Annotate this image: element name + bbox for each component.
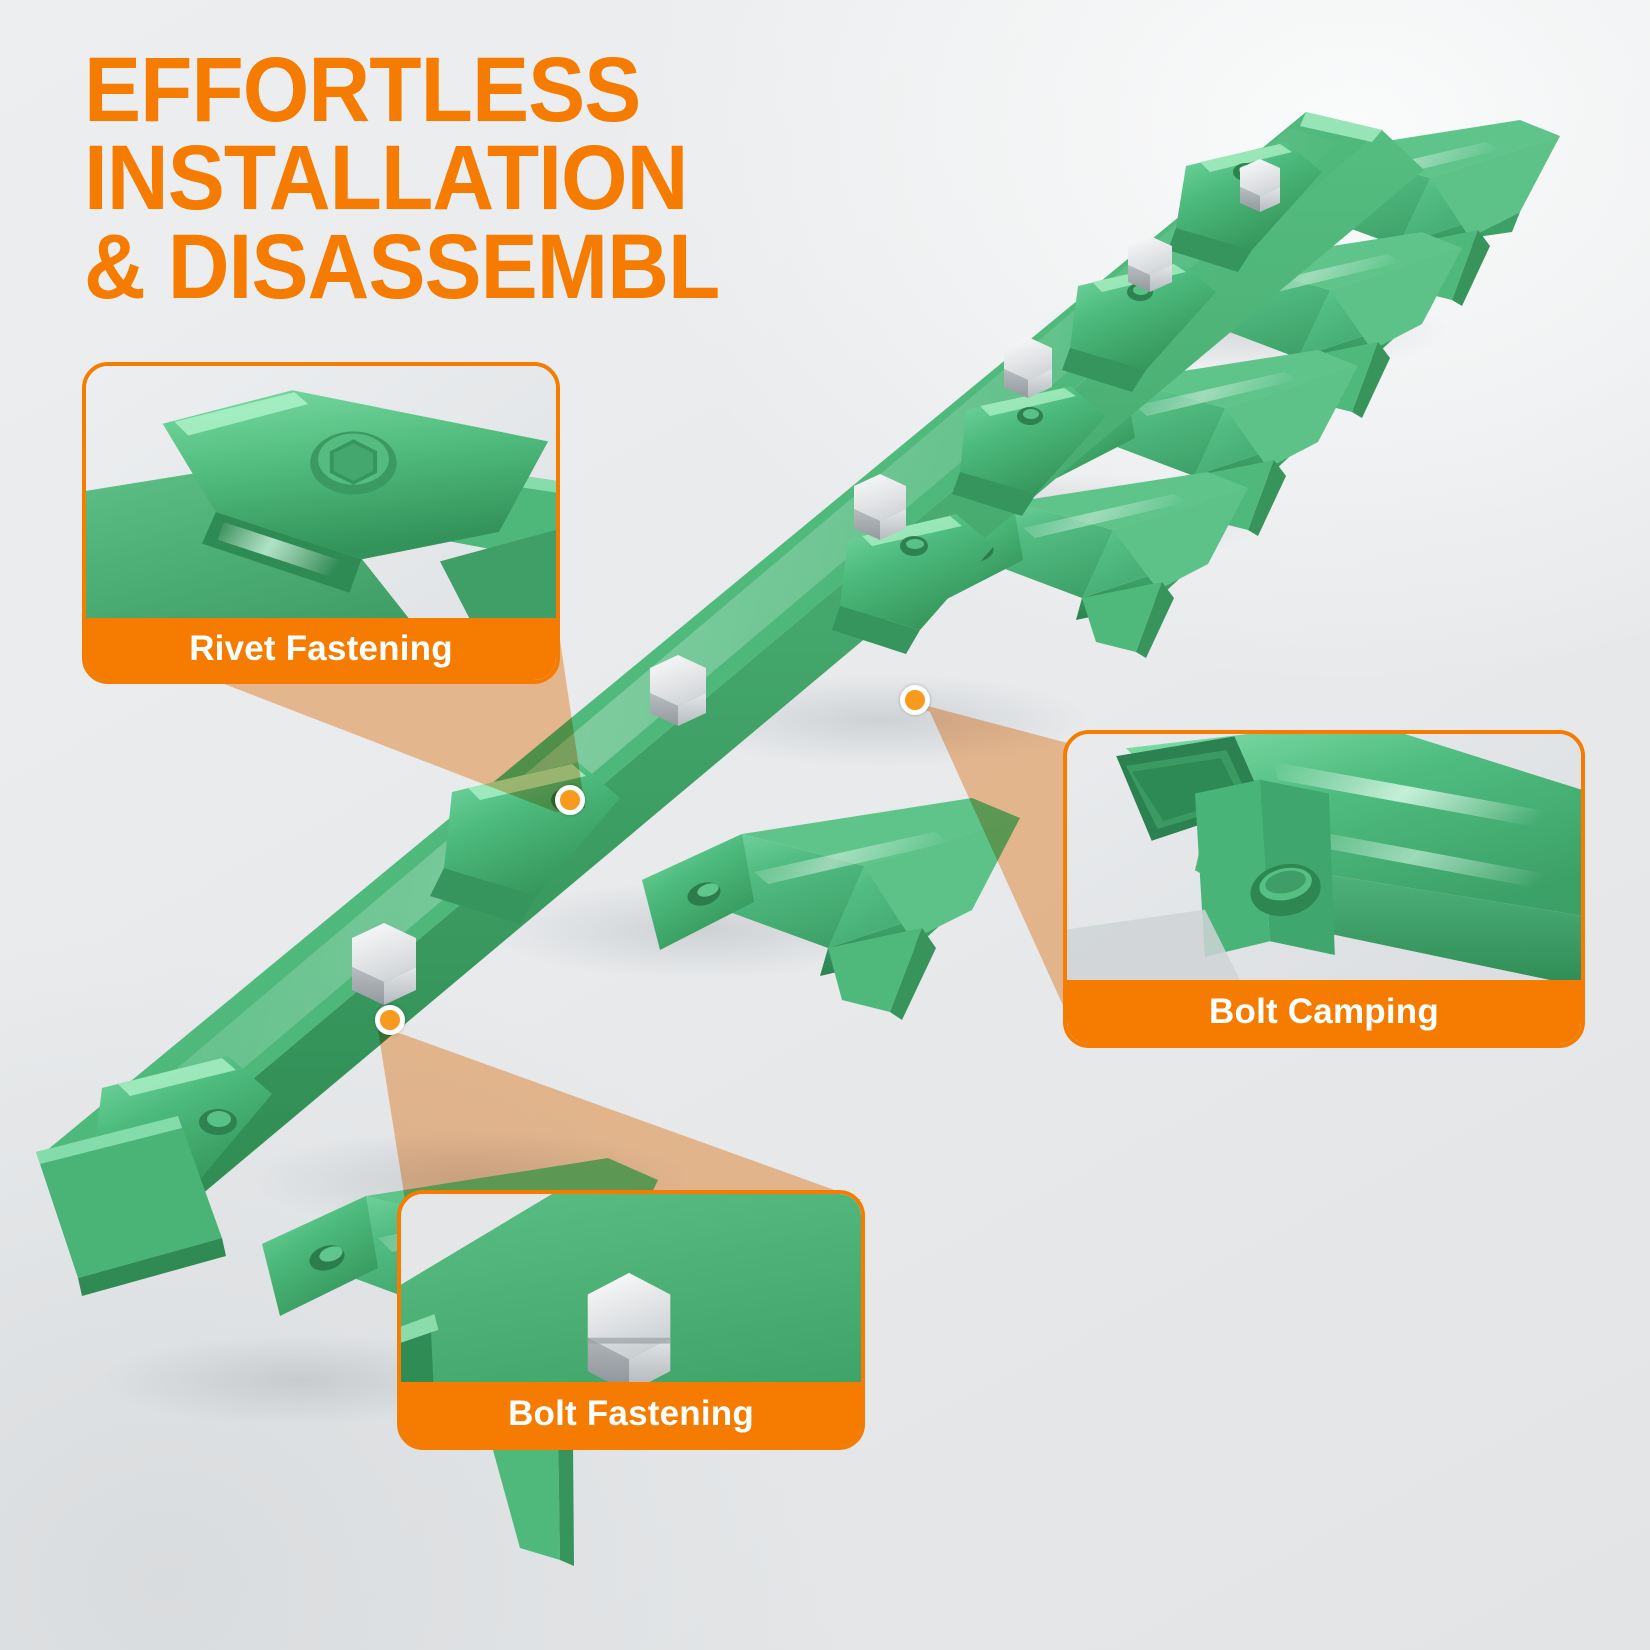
- product-feature-image: Rivet Fastening: [0, 0, 1650, 1650]
- focus-marker-bolt-camping: [900, 685, 930, 715]
- focus-marker-bolt-fastening: [375, 1005, 405, 1035]
- callout-card-bolt-fastening[interactable]: Bolt Fastening: [397, 1190, 865, 1450]
- focus-marker-rivet: [555, 785, 585, 815]
- callout-card-rivet[interactable]: Rivet Fastening: [82, 362, 560, 684]
- cone-bolt-camping: [905, 700, 1075, 1032]
- callout-card-bolt-camping[interactable]: Bolt Camping: [1063, 730, 1585, 1048]
- callout-label-bolt-fastening: Bolt Fastening: [401, 1382, 861, 1446]
- page-title: EFFORTLESS INSTALLATION & DISASSEMBL: [84, 46, 1219, 311]
- callout-label-rivet: Rivet Fastening: [86, 618, 556, 680]
- cone-bolt-fastening: [378, 1030, 862, 1200]
- callout-label-bolt-camping: Bolt Camping: [1067, 980, 1581, 1044]
